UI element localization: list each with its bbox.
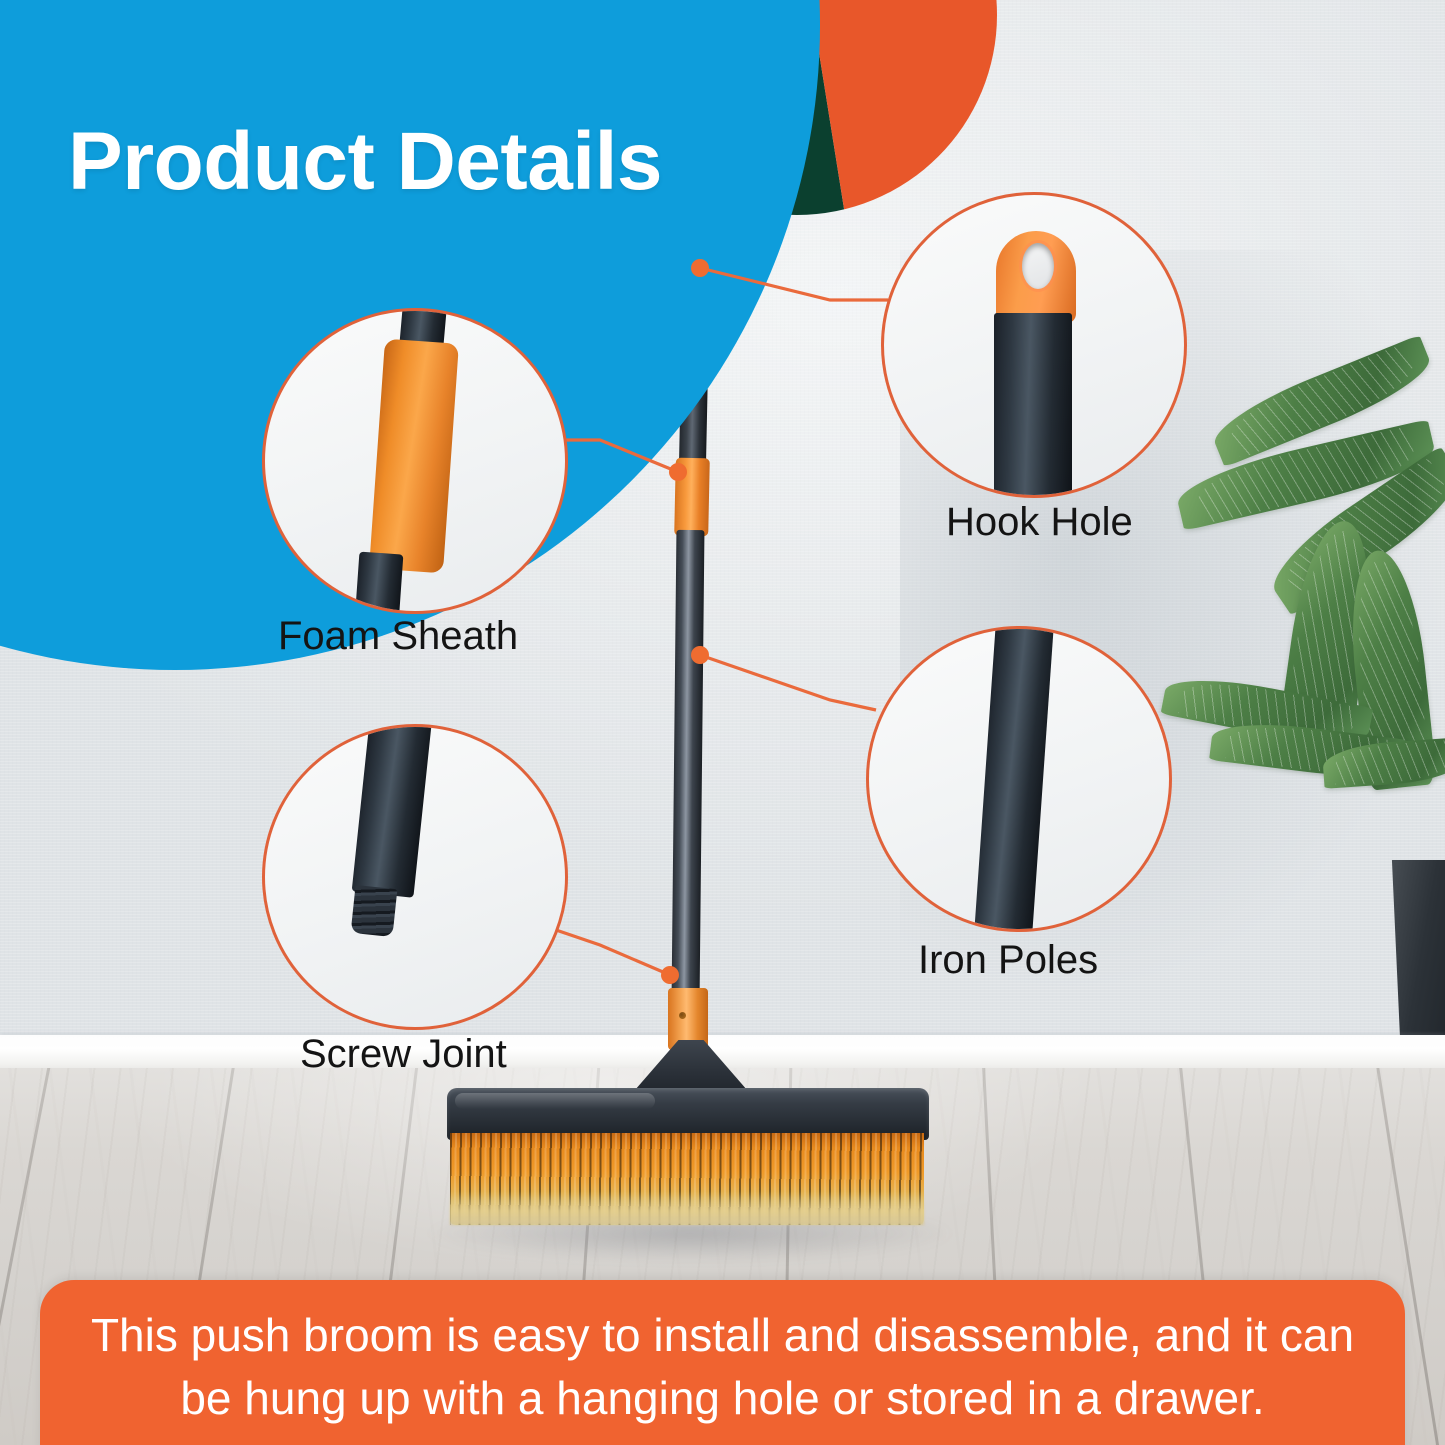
zoom-screw-pole [352,724,433,898]
page-title: Product Details [68,121,662,203]
zoom-hook-hole-opening [1022,243,1054,289]
bottom-banner: This push broom is easy to install and d… [40,1280,1405,1445]
zoom-foam-sleeve [369,339,459,574]
callout-label-hook-hole: Hook Hole [946,500,1133,545]
foam-grip-collar [674,458,710,537]
zoom-iron-pole [973,626,1056,932]
broom-bristles [450,1133,924,1225]
zoom-pole-bottom [355,552,404,614]
collar-screw [679,1012,686,1019]
callout-label-foam-sheath: Foam Sheath [278,614,518,659]
zoom-hook-pole [994,313,1072,498]
pole-lower-section [672,530,705,1000]
callout-circle-foam-sheath [262,308,568,614]
callout-circle-hook-hole [881,192,1187,498]
callout-label-screw-joint: Screw Joint [300,1032,507,1077]
callout-circle-iron-poles [866,626,1172,932]
zoom-screw-threads [351,885,398,937]
callout-circle-screw-joint [262,724,568,1030]
product-details-infographic: Product Details Foam Sheath Hook Hole [0,0,1445,1445]
banner-text: This push broom is easy to install and d… [40,1304,1405,1429]
callout-label-iron-poles: Iron Poles [918,938,1098,983]
